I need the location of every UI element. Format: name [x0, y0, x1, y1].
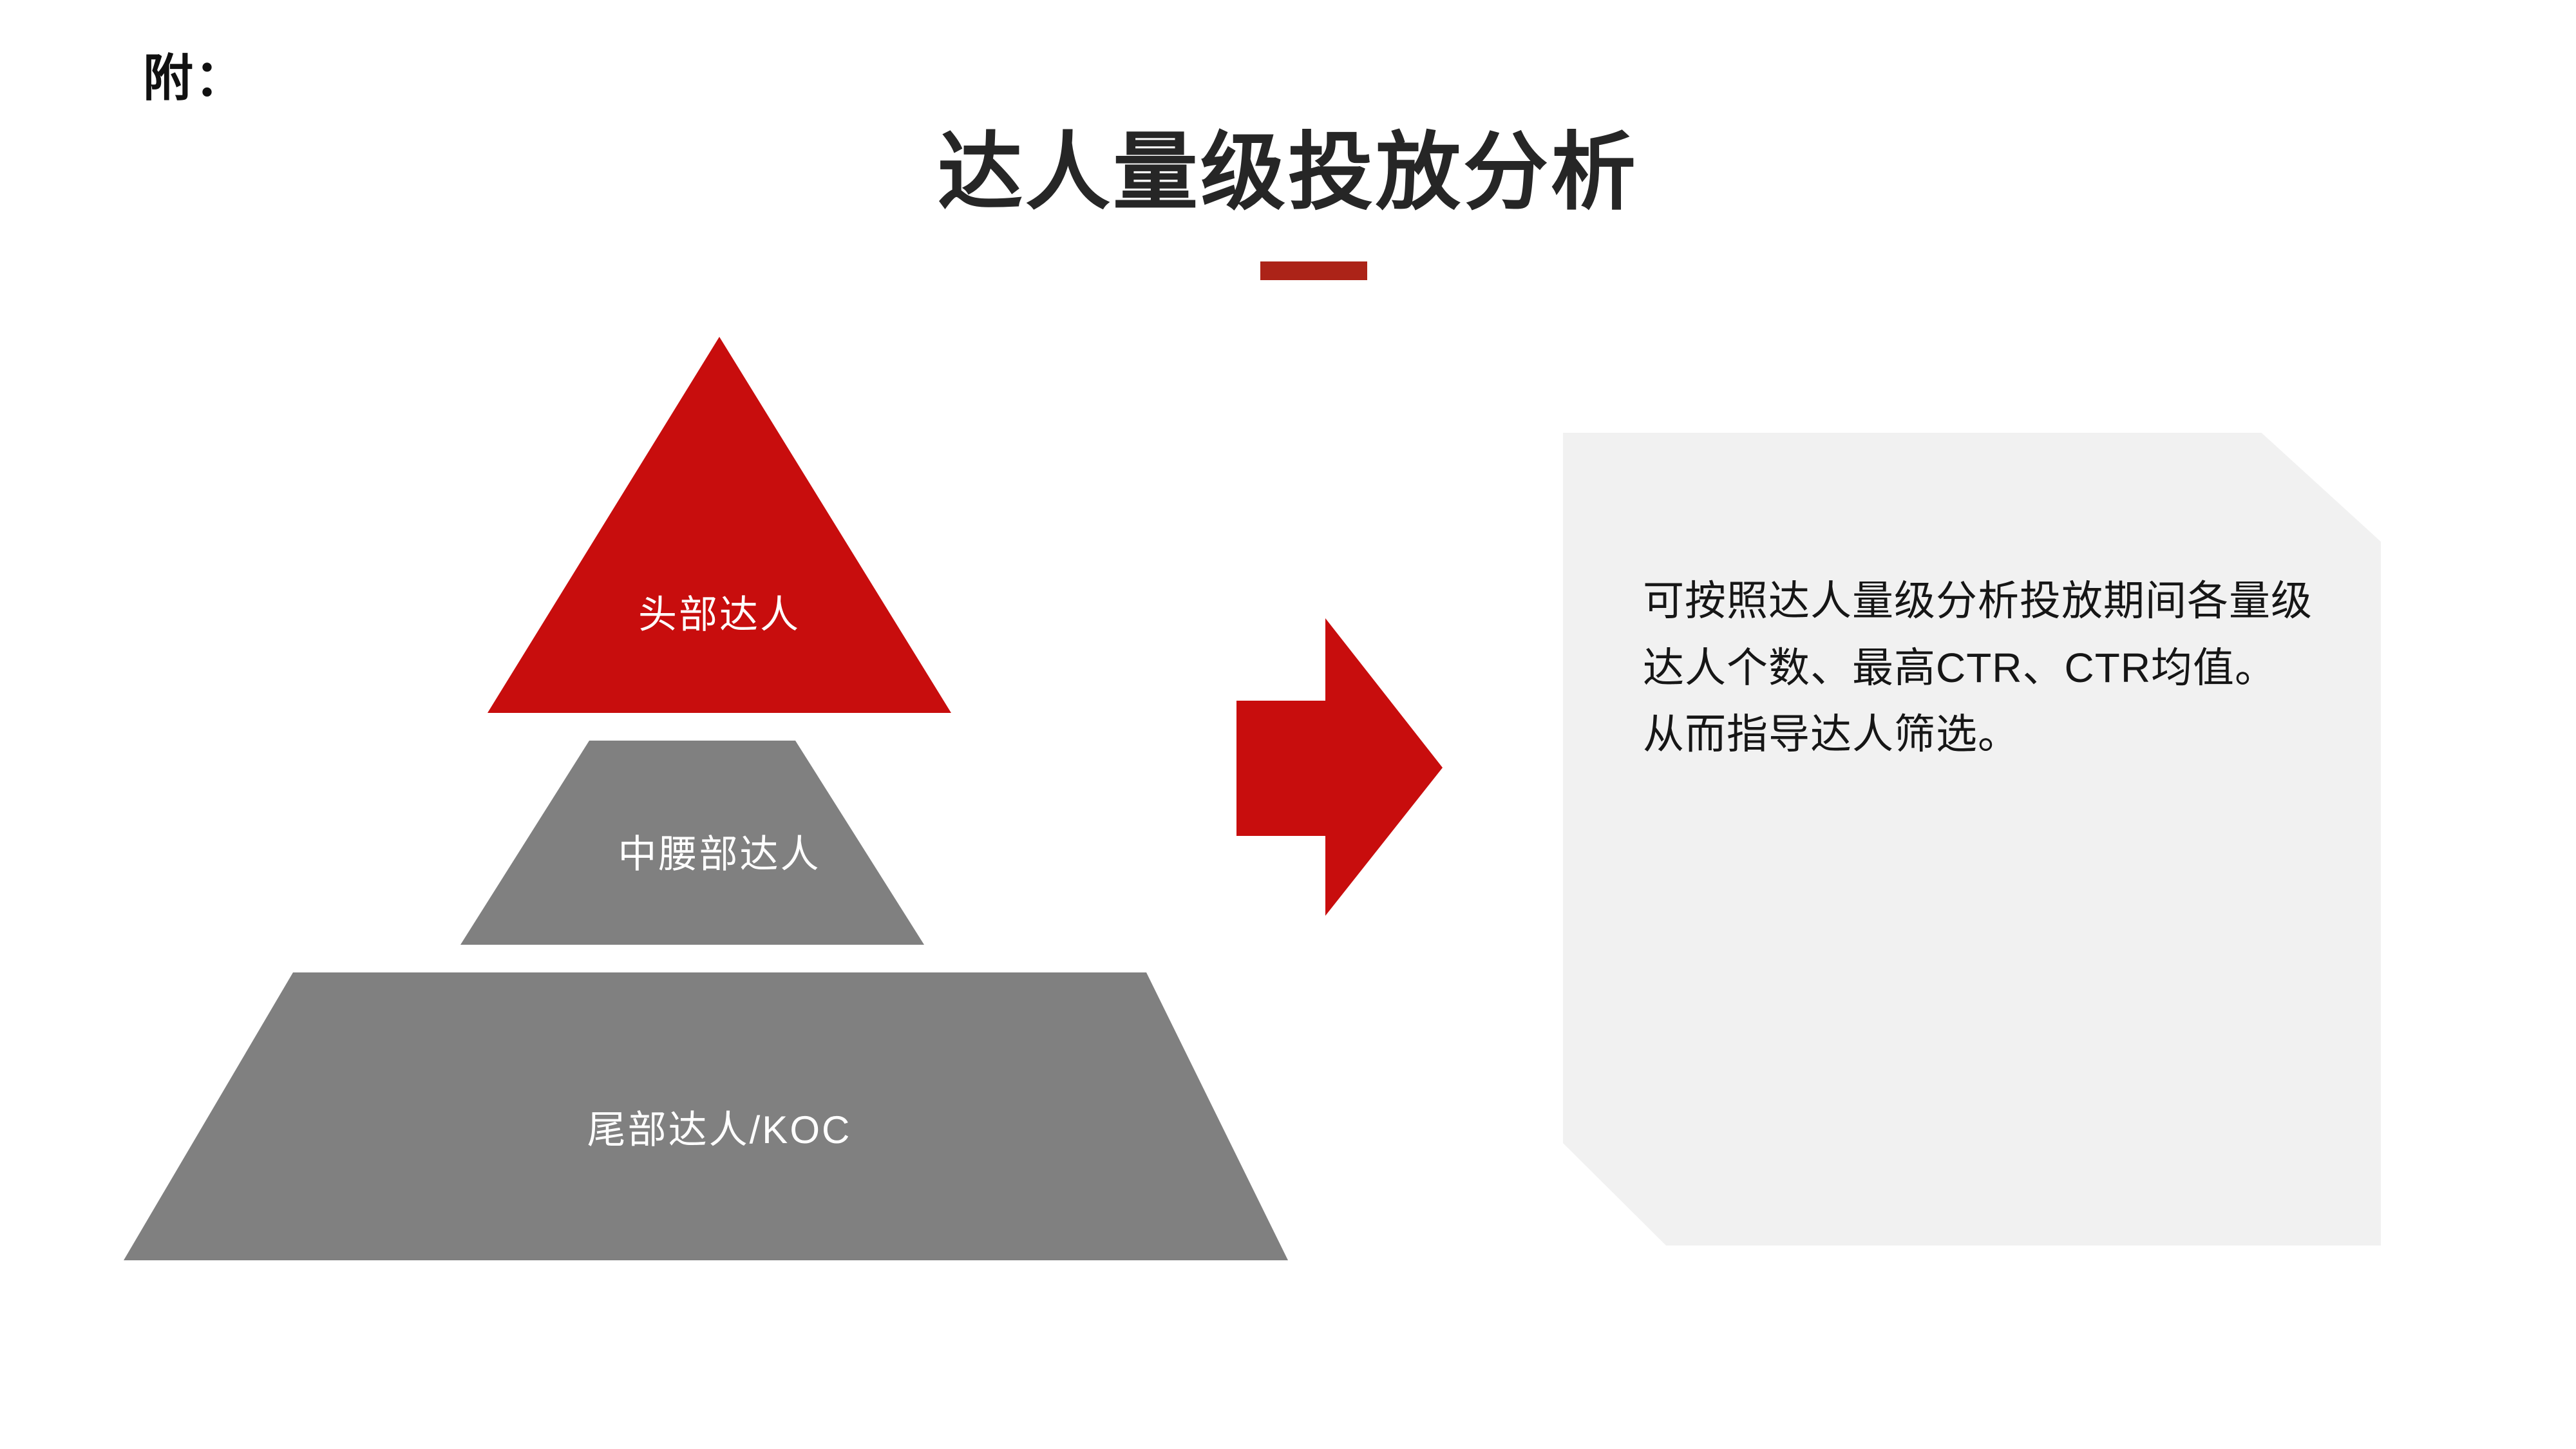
pyramid-level-head-label: 头部达人	[0, 596, 1439, 634]
right-arrow-icon	[1236, 618, 1443, 992]
callout-background	[1563, 433, 2381, 1245]
description-callout: 可按照达人量级分析投放期间各量级达人个数、最高CTR、CTR均值。从而指导达人筛…	[1563, 433, 2381, 1245]
pyramid-level-head	[488, 337, 951, 713]
pyramid-level-tail-label: 尾部达人/KOC	[0, 1111, 1439, 1150]
callout-text: 可按照达人量级分析投放期间各量级达人个数、最高CTR、CTR均值。从而指导达人筛…	[1643, 568, 2313, 768]
slide-canvas: 附： 达人量级投放分析 头部达人 中腰部达人 尾部达人/KOC 可按照达人量级分…	[0, 0, 2576, 1449]
pyramid-level-middle-label: 中腰部达人	[0, 835, 1439, 874]
